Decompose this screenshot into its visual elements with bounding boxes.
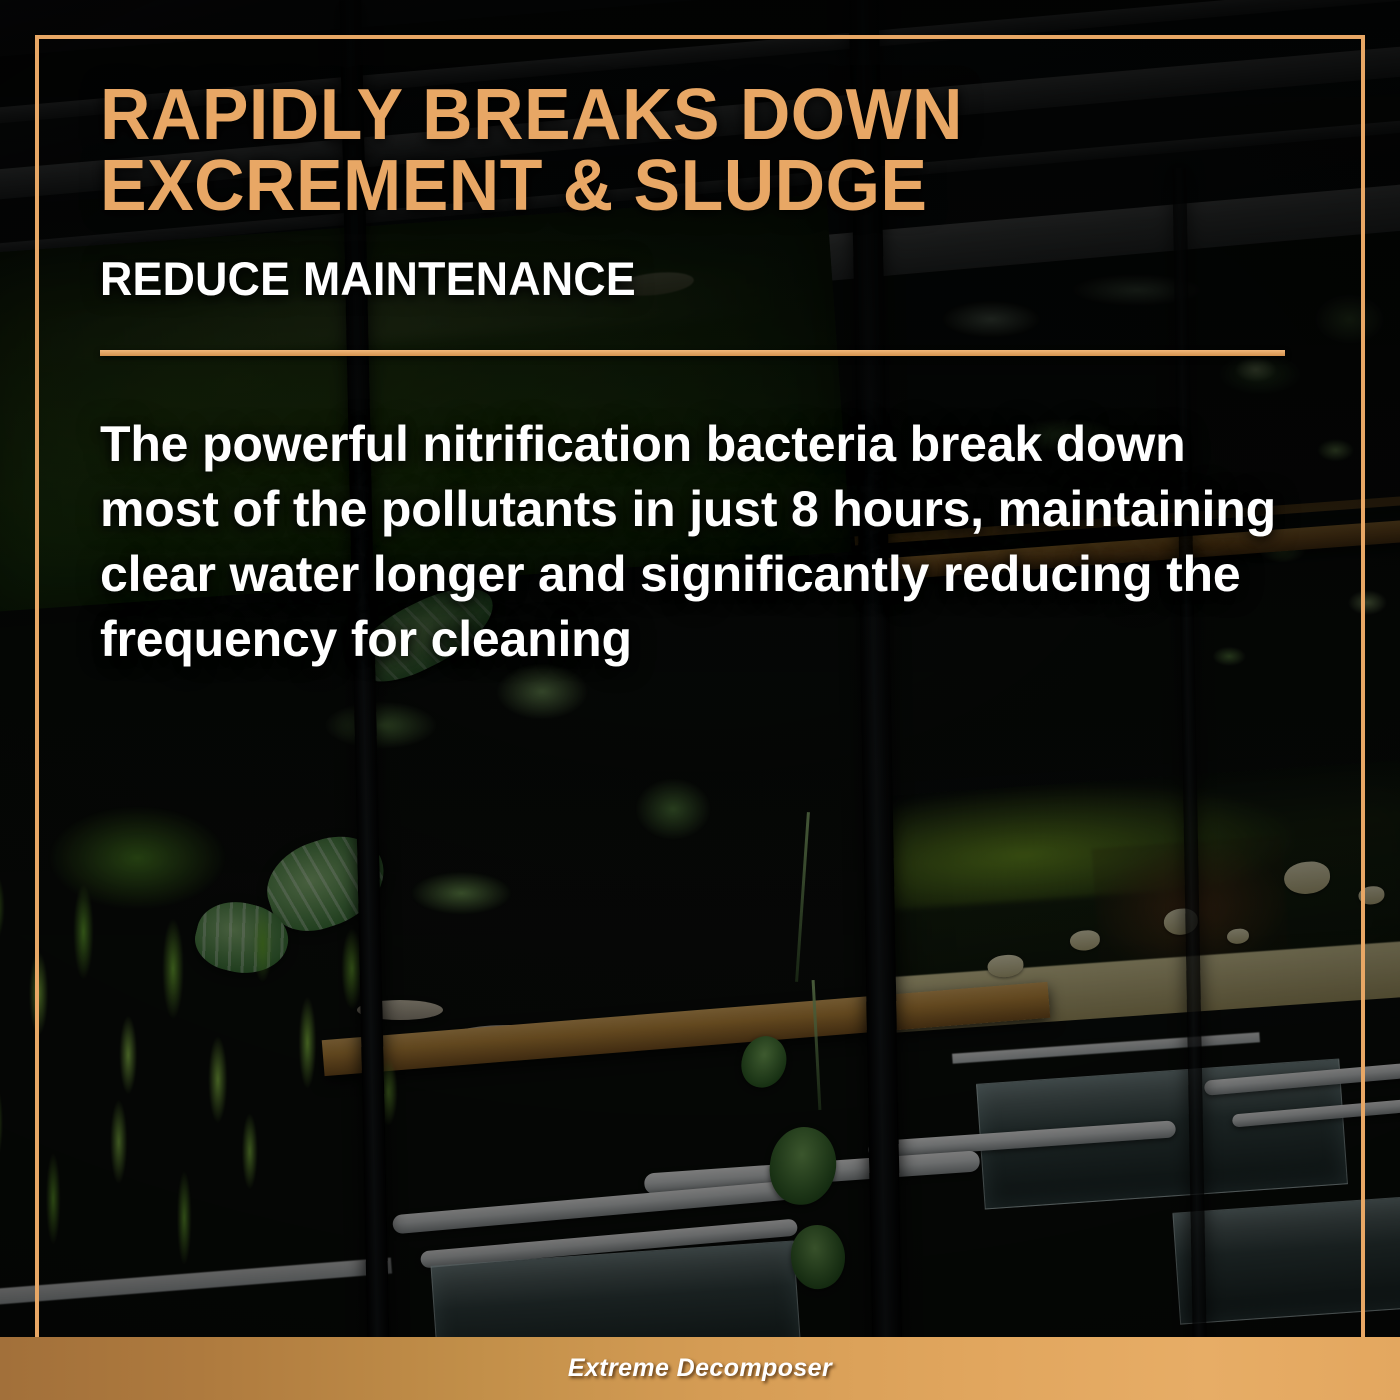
- subheadline: REDUCE MAINTENANCE: [100, 251, 1231, 306]
- product-name-label: Extreme Decomposer: [568, 1354, 832, 1383]
- headline: RAPIDLY BREAKS DOWN EXCREMENT & SLUDGE: [100, 80, 1254, 221]
- fish: [1283, 860, 1331, 895]
- divider-rule: [100, 350, 1285, 356]
- heart-leaf: [788, 1222, 848, 1291]
- content-block: RAPIDLY BREAKS DOWN EXCREMENT & SLUDGE R…: [100, 80, 1290, 672]
- fish: [1358, 885, 1385, 905]
- plant-stem: [795, 812, 810, 982]
- footer-bar: Extreme Decomposer: [0, 1337, 1400, 1400]
- body-paragraph: The powerful nitrification bacteria brea…: [100, 412, 1280, 672]
- fish: [1069, 929, 1100, 951]
